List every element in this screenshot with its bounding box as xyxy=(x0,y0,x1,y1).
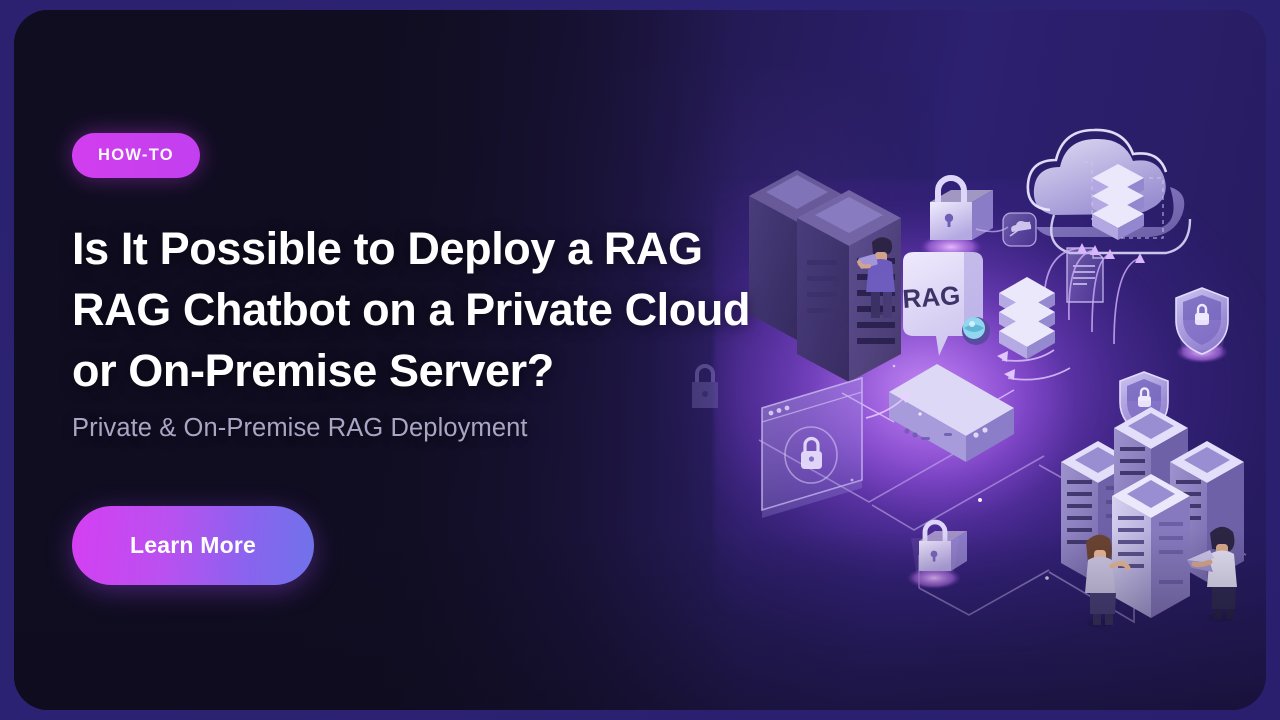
page-subtitle: Private & On-Premise RAG Deployment xyxy=(72,414,528,443)
text-content: HOW-TO Is It Possible to Deploy a RAG RA… xyxy=(72,10,712,710)
page-title: Is It Possible to Deploy a RAG RAG Chatb… xyxy=(72,218,902,401)
banner-card: RAG xyxy=(14,10,1266,710)
banner-root: RAG xyxy=(0,0,1280,720)
title-line-2: RAG Chatbot on a Private Cloud xyxy=(72,279,902,340)
title-line-1: Is It Possible to Deploy a RAG xyxy=(72,218,902,279)
learn-more-button[interactable]: Learn More xyxy=(72,506,314,585)
howto-badge: HOW-TO xyxy=(72,133,200,178)
title-line-3: or On-Premise Server? xyxy=(72,340,902,401)
